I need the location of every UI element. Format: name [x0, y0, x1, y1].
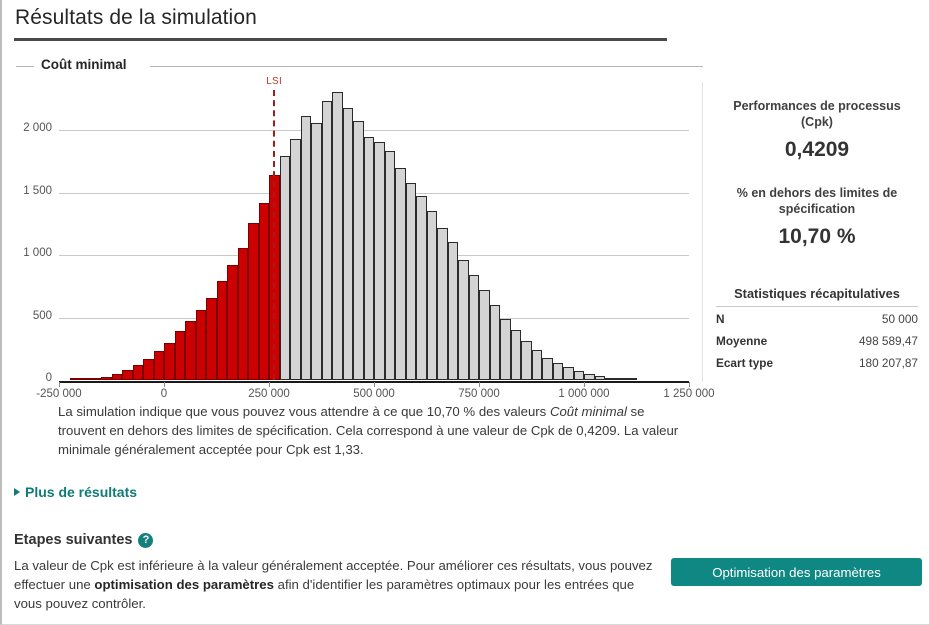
next-text-bold: optimisation des paramètres	[94, 577, 274, 592]
histogram-bar	[521, 341, 532, 380]
pct-label-line2: spécification	[779, 202, 855, 216]
histogram-bar	[206, 298, 217, 381]
group-rule-left	[16, 66, 34, 67]
stat-row: Ecart type180 207,87	[716, 356, 918, 376]
histogram-bar	[553, 363, 564, 381]
cpk-label-line1: Performances de processus	[733, 99, 900, 113]
histogram-bar	[542, 358, 553, 381]
histogram-bar	[406, 183, 417, 380]
histogram-bar	[353, 121, 364, 380]
stat-value: 50 000	[882, 312, 918, 326]
histogram-bar	[532, 350, 543, 380]
histogram-bar	[112, 374, 123, 380]
histogram-bar	[80, 378, 91, 380]
histogram-bar	[479, 290, 490, 380]
histogram-bar	[91, 378, 102, 380]
y-tick-label: 2 000	[2, 122, 52, 134]
x-tick-mark	[584, 382, 585, 387]
x-tick-mark	[164, 382, 165, 387]
x-tick-mark	[59, 382, 60, 387]
histogram-bar	[101, 377, 112, 381]
results-window: Résultats de la simulation Coût minimal …	[0, 0, 930, 625]
stat-key: N	[716, 312, 725, 326]
x-tick-label: 750 000	[434, 388, 524, 400]
summary-panel: Performances de processus (Cpk) 0,4209 %…	[702, 80, 930, 380]
histogram-bar	[343, 108, 354, 381]
lsi-marker-label: LSI	[266, 76, 282, 87]
cpk-value: 0,4209	[712, 138, 922, 162]
gridline	[59, 130, 689, 131]
pct-label-line1: % en dehors des limites de	[737, 186, 897, 200]
histogram-bar	[196, 310, 207, 380]
histogram-bar	[469, 275, 480, 380]
histogram-chart: 05001 0001 5002 000-250 0000250 000500 0…	[2, 80, 702, 395]
histogram-bar	[332, 92, 343, 380]
more-results-label: Plus de résultats	[25, 484, 137, 500]
stat-value: 180 207,87	[859, 356, 918, 370]
histogram-bar	[238, 248, 249, 380]
histogram-bar	[427, 211, 438, 380]
histogram-bar	[322, 101, 333, 380]
histogram-bar	[584, 374, 595, 380]
histogram-bar	[374, 142, 385, 380]
next-steps-text: La valeur de Cpk est inférieure à la val…	[14, 556, 655, 613]
histogram-bar	[143, 359, 154, 380]
x-tick-label: 250 000	[224, 388, 314, 400]
pct-label: % en dehors des limites de spécification	[712, 185, 922, 217]
stat-row: N50 000	[716, 312, 918, 332]
histogram-bar	[70, 378, 81, 380]
stat-row: Moyenne498 589,47	[716, 334, 918, 354]
next-steps-label: Etapes suivantes	[14, 532, 132, 548]
histogram-bar	[185, 321, 196, 380]
x-tick-label: -250 000	[14, 388, 104, 400]
histogram-bar	[490, 305, 501, 380]
stat-key: Moyenne	[716, 334, 767, 348]
histogram-bar	[616, 378, 627, 380]
x-tick-label: 500 000	[329, 388, 419, 400]
histogram-bar	[416, 196, 427, 380]
group-rule-right	[150, 66, 703, 67]
histogram-bar	[227, 265, 238, 380]
summary-stats-rule	[716, 306, 918, 307]
histogram-bar	[626, 378, 637, 380]
histogram-bar	[217, 281, 228, 380]
stat-key: Ecart type	[716, 356, 773, 370]
lsi-marker-line	[273, 90, 275, 380]
chevron-right-icon	[14, 488, 20, 496]
histogram-bar	[500, 319, 511, 380]
help-icon[interactable]: ?	[138, 533, 153, 548]
cpk-label-line2: (Cpk)	[801, 115, 833, 129]
more-results-toggle[interactable]: Plus de résultats	[14, 484, 137, 500]
summary-stats-title: Statistiques récapitulatives	[712, 286, 922, 301]
histogram-bar	[364, 137, 375, 380]
histogram-bar	[595, 376, 606, 380]
x-tick-mark	[479, 382, 480, 387]
y-tick-label: 1 500	[2, 185, 52, 197]
histogram-bar	[395, 168, 406, 381]
x-tick-label: 1 000 000	[539, 388, 629, 400]
page-title: Résultats de la simulation	[15, 6, 257, 30]
histogram-bar	[311, 123, 322, 380]
histogram-bar	[574, 371, 585, 380]
histogram-bar	[280, 156, 291, 380]
plot-area: 05001 0001 5002 000-250 0000250 000500 0…	[59, 90, 689, 382]
histogram-bar	[122, 370, 133, 380]
histogram-bar	[301, 116, 312, 380]
histogram-bar	[511, 330, 522, 380]
x-tick-mark	[269, 382, 270, 387]
histogram-bar	[385, 151, 396, 380]
histogram-bar	[154, 351, 165, 380]
histogram-bar	[133, 365, 144, 380]
desc-emphasis: Coût minimal	[550, 404, 627, 419]
y-tick-label: 500	[2, 310, 52, 322]
x-tick-mark	[689, 382, 690, 387]
desc-part1: La simulation indique que vous pouvez vo…	[58, 404, 550, 419]
histogram-bar	[448, 242, 459, 380]
histogram-bar	[605, 378, 616, 380]
histogram-bar	[458, 260, 469, 380]
histogram-bar	[164, 343, 175, 381]
result-description: La simulation indique que vous pouvez vo…	[58, 402, 695, 459]
histogram-bar	[259, 203, 270, 381]
histogram-bar	[290, 139, 301, 380]
x-tick-label: 1 250 000	[644, 388, 734, 400]
next-steps-title: Etapes suivantes?	[14, 532, 153, 548]
y-tick-label: 0	[2, 372, 52, 384]
pct-value: 10,70 %	[712, 225, 922, 249]
stat-value: 498 589,47	[859, 334, 918, 348]
parameter-optimization-button[interactable]: Optimisation des paramètres	[671, 558, 922, 586]
histogram-bar	[437, 228, 448, 381]
x-tick-label: 0	[119, 388, 209, 400]
group-label: Coût minimal	[35, 57, 133, 72]
x-tick-mark	[374, 382, 375, 387]
histogram-bar	[563, 367, 574, 380]
histogram-bar	[248, 223, 259, 380]
histogram-bar	[175, 331, 186, 380]
title-divider	[14, 38, 667, 41]
cpk-label: Performances de processus (Cpk)	[712, 98, 922, 130]
y-tick-label: 1 000	[2, 247, 52, 259]
